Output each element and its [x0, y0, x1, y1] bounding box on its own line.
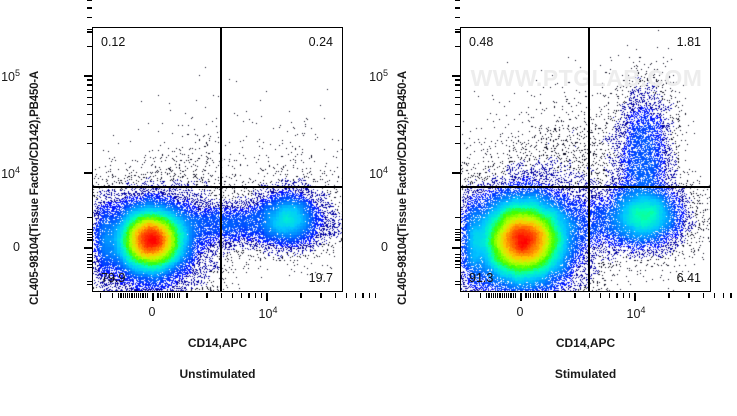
- y-tick-minor: [87, 126, 92, 127]
- x-tick-minor: [125, 293, 126, 298]
- x-tick-label-1e4-right: 104: [627, 305, 646, 321]
- x-tick-minor: [167, 293, 168, 298]
- gate-line-horizontal-left[interactable]: [93, 186, 343, 188]
- x-tick-minor: [162, 293, 163, 298]
- x-tick-major: [152, 293, 154, 301]
- x-tick-minor: [486, 293, 487, 298]
- y-tick-major: [84, 75, 92, 77]
- y-tick-minor: [455, 229, 460, 230]
- x-axis-title-right: CD14,APC: [460, 336, 711, 350]
- y-tick-minor: [455, 17, 460, 18]
- x-tick-minor: [493, 293, 494, 298]
- y-tick-minor: [87, 234, 92, 235]
- x-tick-minor: [232, 293, 233, 298]
- x-tick-minor: [530, 293, 531, 298]
- y-axis-ticks-right: [460, 27, 461, 292]
- y-tick-minor: [87, 79, 92, 80]
- y-tick-minor: [87, 84, 92, 85]
- quadrant-stat-lower-right-stim: 6.41: [677, 271, 701, 285]
- x-tick-minor: [160, 293, 161, 298]
- x-tick-minor: [169, 293, 170, 298]
- plot-area-unstimulated[interactable]: 0.12 0.24 79.9 19.7: [92, 27, 343, 292]
- y-axis-ticks-left: [92, 27, 93, 292]
- y-tick-minor: [87, 267, 92, 268]
- y-tick-label-0-right: 0: [381, 240, 388, 254]
- y-tick-minor: [87, 281, 92, 282]
- panel-stimulated: CL405-98104(Tissue Factor/CD142),PB450-A…: [368, 0, 736, 416]
- x-tick-minor: [506, 293, 507, 298]
- y-tick-major: [452, 75, 460, 77]
- x-tick-minor: [714, 293, 715, 298]
- y-tick-minor: [87, 232, 92, 233]
- x-tick-minor: [688, 293, 689, 298]
- x-tick-major: [634, 293, 636, 301]
- y-tick-minor: [87, 29, 92, 30]
- x-tick-minor: [554, 293, 555, 298]
- gate-line-vertical-left[interactable]: [220, 28, 222, 292]
- x-tick-minor: [528, 293, 529, 298]
- flow-cytometry-figure: CL405-98104(Tissue Factor/CD142),PB450-A…: [0, 0, 737, 416]
- y-tick-minor: [455, 267, 460, 268]
- x-tick-minor: [535, 293, 536, 298]
- x-tick-minor: [138, 293, 139, 298]
- x-tick-minor: [525, 293, 526, 298]
- y-tick-minor: [455, 84, 460, 85]
- y-tick-minor: [87, 229, 92, 230]
- x-tick-minor: [255, 293, 256, 298]
- y-tick-minor: [87, 104, 92, 105]
- plot-area-stimulated[interactable]: WWW.PTGLAB.COM 0.48 1.81 91.3 6.41: [460, 27, 711, 292]
- density-dotplot-stimulated: [461, 28, 710, 291]
- x-tick-minor: [186, 293, 187, 298]
- x-tick-minor: [100, 293, 101, 298]
- y-axis-title-right: CL405-98104(Tissue Factor/CD142),PB450-A: [397, 5, 419, 305]
- x-tick-minor: [131, 293, 132, 298]
- y-tick-minor: [87, 260, 92, 261]
- x-tick-minor: [703, 293, 704, 298]
- y-tick-minor: [455, 104, 460, 105]
- x-tick-minor: [668, 293, 669, 298]
- quadrant-stat-lower-left-unstim: 79.9: [101, 271, 125, 285]
- y-tick-minor: [87, 237, 92, 238]
- quadrant-stat-lower-left-stim: 91.3: [469, 271, 493, 285]
- x-tick-minor: [112, 293, 113, 298]
- y-tick-minor: [455, 264, 460, 265]
- x-tick-minor: [609, 293, 610, 298]
- y-tick-minor: [455, 29, 460, 30]
- y-tick-label-1e5-right: 105: [369, 68, 388, 84]
- y-tick-minor: [455, 281, 460, 282]
- gate-line-horizontal-right[interactable]: [461, 186, 711, 188]
- y-tick-minor: [455, 7, 460, 8]
- gate-line-vertical-right[interactable]: [588, 28, 590, 292]
- density-dotplot-unstimulated: [93, 28, 342, 291]
- y-tick-minor: [455, 254, 460, 255]
- x-tick-minor: [172, 293, 173, 298]
- x-tick-minor: [320, 293, 321, 298]
- y-tick-major: [84, 247, 92, 249]
- x-tick-minor: [495, 293, 496, 298]
- x-tick-minor: [497, 293, 498, 298]
- x-tick-minor: [542, 293, 543, 298]
- y-tick-minor: [87, 217, 92, 218]
- y-tick-minor: [455, 232, 460, 233]
- x-tick-minor: [730, 293, 731, 298]
- x-tick-minor: [261, 293, 262, 298]
- y-tick-minor: [87, 257, 92, 258]
- y-tick-minor: [87, 90, 92, 91]
- x-tick-minor: [723, 293, 724, 298]
- y-tick-minor: [87, 254, 92, 255]
- x-tick-minor: [177, 293, 178, 298]
- y-tick-minor: [455, 97, 460, 98]
- x-tick-minor: [248, 293, 249, 298]
- x-tick-minor: [174, 293, 175, 298]
- y-tick-minor: [455, 217, 460, 218]
- x-tick-minor: [118, 293, 119, 298]
- x-tick-minor: [491, 293, 492, 298]
- x-tick-minor: [355, 293, 356, 298]
- x-tick-minor: [120, 293, 121, 298]
- x-tick-minor: [499, 293, 500, 298]
- x-tick-minor: [300, 293, 301, 298]
- x-tick-minor: [335, 293, 336, 298]
- x-tick-minor: [206, 293, 207, 298]
- y-tick-minor: [87, 0, 92, 1]
- x-tick-label-0-left: 0: [149, 305, 156, 319]
- x-tick-minor: [140, 293, 141, 298]
- y-tick-minor: [455, 237, 460, 238]
- y-tick-minor: [455, 31, 460, 32]
- x-axis-title-left: CD14,APC: [92, 336, 343, 350]
- x-tick-minor: [533, 293, 534, 298]
- x-tick-minor: [179, 293, 180, 298]
- y-tick-major: [452, 172, 460, 174]
- y-tick-minor: [87, 46, 92, 47]
- quadrant-stat-upper-right-unstim: 0.24: [309, 35, 333, 49]
- y-tick-label-1e5-left: 105: [1, 68, 20, 84]
- x-tick-minor: [468, 293, 469, 298]
- x-tick-minor: [629, 293, 630, 298]
- x-tick-minor: [545, 293, 546, 298]
- x-tick-minor: [241, 293, 242, 298]
- x-tick-minor: [574, 293, 575, 298]
- y-tick-minor: [455, 257, 460, 258]
- x-tick-minor: [346, 293, 347, 298]
- y-tick-minor: [87, 31, 92, 32]
- y-tick-minor: [87, 97, 92, 98]
- x-tick-minor: [129, 293, 130, 298]
- panel-caption-stimulated: Stimulated: [460, 367, 711, 381]
- x-tick-minor: [547, 293, 548, 298]
- x-tick-minor: [147, 293, 148, 298]
- x-tick-minor: [510, 293, 511, 298]
- x-tick-label-0-right: 0: [517, 305, 524, 319]
- x-tick-minor: [165, 293, 166, 298]
- x-tick-minor: [142, 293, 143, 298]
- y-tick-minor: [455, 126, 460, 127]
- x-axis-ticks-left: [92, 293, 343, 303]
- x-tick-minor: [623, 293, 624, 298]
- quadrant-stat-upper-right-stim: 1.81: [677, 35, 701, 49]
- x-tick-minor: [616, 293, 617, 298]
- x-tick-minor: [123, 293, 124, 298]
- x-tick-minor: [157, 293, 158, 298]
- x-tick-minor: [362, 293, 363, 298]
- x-tick-major: [266, 293, 268, 301]
- x-tick-minor: [513, 293, 514, 298]
- x-tick-minor: [145, 293, 146, 298]
- quadrant-stat-upper-left-stim: 0.48: [469, 35, 493, 49]
- y-tick-minor: [455, 284, 460, 285]
- x-tick-minor: [600, 293, 601, 298]
- panel-unstimulated: CL405-98104(Tissue Factor/CD142),PB450-A…: [0, 0, 368, 416]
- x-tick-label-1e4-left: 104: [259, 305, 278, 321]
- x-tick-minor: [127, 293, 128, 298]
- x-tick-minor: [134, 293, 135, 298]
- y-tick-minor: [87, 7, 92, 8]
- panel-caption-unstimulated: Unstimulated: [92, 367, 343, 381]
- y-tick-minor: [455, 234, 460, 235]
- x-tick-major: [520, 293, 522, 301]
- x-tick-minor: [504, 293, 505, 298]
- y-tick-label-1e4-left: 104: [1, 165, 20, 181]
- y-tick-minor: [455, 143, 460, 144]
- y-tick-minor: [87, 239, 92, 240]
- y-tick-minor: [455, 79, 460, 80]
- y-axis-title-left: CL405-98104(Tissue Factor/CD142),PB450-A: [29, 5, 51, 305]
- x-tick-minor: [589, 293, 590, 298]
- y-tick-minor: [455, 0, 460, 1]
- x-tick-minor: [480, 293, 481, 298]
- y-tick-minor: [87, 114, 92, 115]
- y-tick-label-1e4-right: 104: [369, 165, 388, 181]
- x-tick-minor: [136, 293, 137, 298]
- y-tick-label-0-left: 0: [13, 240, 20, 254]
- x-tick-minor: [515, 293, 516, 298]
- quadrant-stat-upper-left-unstim: 0.12: [101, 35, 125, 49]
- x-tick-minor: [221, 293, 222, 298]
- y-tick-minor: [455, 90, 460, 91]
- y-tick-minor: [455, 114, 460, 115]
- y-tick-minor: [455, 239, 460, 240]
- y-tick-major: [452, 247, 460, 249]
- quadrant-stat-lower-right-unstim: 19.7: [309, 271, 333, 285]
- y-tick-major: [84, 172, 92, 174]
- y-tick-minor: [87, 284, 92, 285]
- x-tick-minor: [508, 293, 509, 298]
- x-tick-minor: [540, 293, 541, 298]
- y-tick-minor: [455, 46, 460, 47]
- y-tick-minor: [87, 143, 92, 144]
- x-tick-minor: [502, 293, 503, 298]
- x-axis-ticks-right: [460, 293, 711, 303]
- y-tick-minor: [87, 264, 92, 265]
- x-tick-minor: [537, 293, 538, 298]
- y-tick-minor: [87, 17, 92, 18]
- x-tick-minor: [488, 293, 489, 298]
- y-tick-minor: [455, 260, 460, 261]
